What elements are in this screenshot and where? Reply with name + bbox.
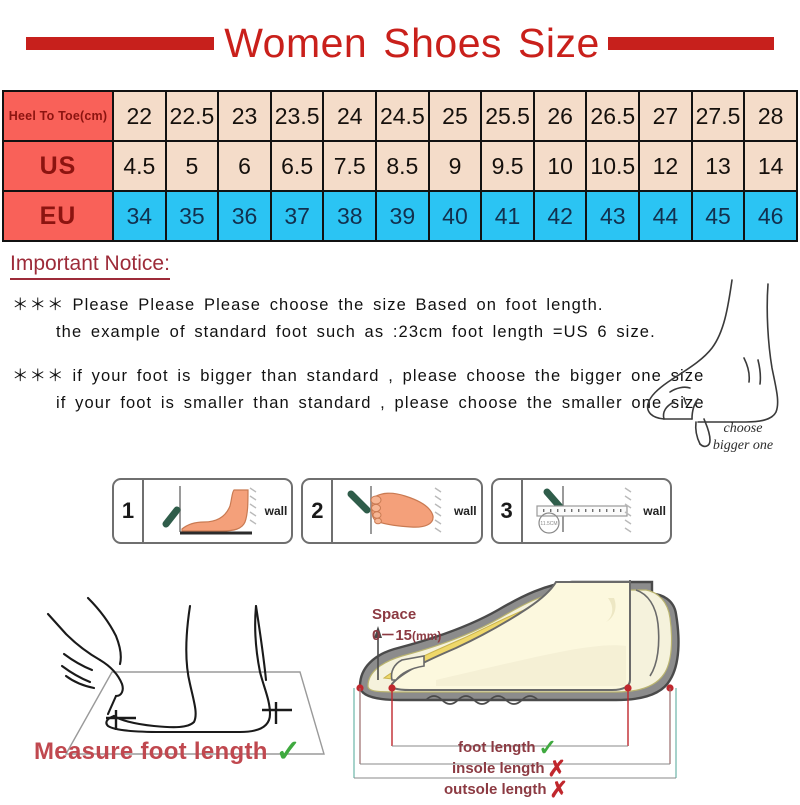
- legend-row-insole-length: insole length ✗: [444, 758, 744, 779]
- step-number: 2: [303, 480, 333, 542]
- important-notice-body: ＊＊＊Please Please Please choose the size …: [12, 292, 692, 434]
- table-cell: 13: [692, 141, 745, 191]
- table-cell: 43: [586, 191, 639, 241]
- table-cell: 44: [639, 191, 692, 241]
- svg-text:11.5CM: 11.5CM: [540, 521, 557, 527]
- table-cell: 25: [429, 91, 482, 141]
- table-cell: 7.5: [323, 141, 376, 191]
- table-cell: 35: [166, 191, 219, 241]
- page-title-word-3: Size: [518, 20, 600, 66]
- measurement-steps: 1 wall 2: [112, 478, 672, 544]
- table-row-cm: Heel To Toe(cm) 22 22.5 23 23.5 24 24.5 …: [3, 91, 797, 141]
- table-cell: 37: [271, 191, 324, 241]
- step-number: 3: [493, 480, 523, 542]
- table-cell: 34: [113, 191, 166, 241]
- page-title-word-2: Shoes: [383, 20, 502, 66]
- asterisk-marker: ＊＊＊: [12, 296, 65, 314]
- table-cell: 9: [429, 141, 482, 191]
- space-label-line2: 0－15(mm): [372, 625, 441, 647]
- title-rule-right: [608, 37, 774, 50]
- shoe-measurement-legend: foot length ✓ insole length ✗ outsole le…: [444, 737, 744, 800]
- table-cell: 10: [534, 141, 587, 191]
- size-conversion-table: Heel To Toe(cm) 22 22.5 23 23.5 24 24.5 …: [2, 90, 798, 242]
- table-cell: 26.5: [586, 91, 639, 141]
- caption-line: bigger one: [688, 437, 798, 454]
- title-rule-left: [26, 37, 214, 50]
- choose-bigger-one-caption: choose bigger one: [688, 420, 798, 454]
- space-label-line1: Space: [372, 604, 441, 625]
- step-box-2: 2 wall: [301, 478, 482, 544]
- table-cell: 28: [744, 91, 797, 141]
- step-box-1: 1 wall: [112, 478, 293, 544]
- measure-foot-length-caption: Measure foot length ✓: [34, 738, 301, 766]
- table-cell: 38: [323, 191, 376, 241]
- notice-text: if your foot is bigger than standard , p…: [73, 367, 705, 385]
- notice-block-1: ＊＊＊Please Please Please choose the size …: [12, 292, 692, 346]
- row-header-us: US: [3, 141, 113, 191]
- table-cell: 42: [534, 191, 587, 241]
- table-cell: 40: [429, 191, 482, 241]
- row-header-eu: EU: [3, 191, 113, 241]
- table-cell: 39: [376, 191, 429, 241]
- table-cell: 8.5: [376, 141, 429, 191]
- table-cell: 4.5: [113, 141, 166, 191]
- table-cell: 9.5: [481, 141, 534, 191]
- important-notice-heading: Important Notice:: [10, 252, 170, 280]
- legend-label: insole length: [452, 758, 545, 779]
- notice-line: ＊＊＊if your foot is bigger than standard …: [12, 363, 692, 390]
- table-cell: 24: [323, 91, 376, 141]
- table-cell: 12: [639, 141, 692, 191]
- table-cell: 46: [744, 191, 797, 241]
- legend-row-outsole-length: outsole length ✗: [444, 779, 744, 800]
- notice-line: if your foot is smaller than standard , …: [12, 390, 692, 417]
- caption-text: Measure foot length: [34, 738, 268, 766]
- table-cell: 27.5: [692, 91, 745, 141]
- table-cell: 6: [218, 141, 271, 191]
- notice-block-2: ＊＊＊if your foot is bigger than standard …: [12, 363, 692, 417]
- table-cell: 10.5: [586, 141, 639, 191]
- table-cell: 45: [692, 191, 745, 241]
- table-row-eu: EU 34 35 36 37 38 39 40 41 42 43 44 45 4…: [3, 191, 797, 241]
- page-title-word-1: Women: [224, 20, 367, 66]
- page-title: WomenShoesSize: [224, 23, 600, 64]
- wall-label: wall: [643, 504, 666, 518]
- caption-line: choose: [688, 420, 798, 437]
- table-cell: 23: [218, 91, 271, 141]
- space-annotation: Space 0－15(mm): [372, 604, 441, 647]
- check-icon: ✓: [276, 740, 301, 764]
- cross-icon: ✗: [550, 782, 568, 797]
- space-unit: (mm): [412, 629, 441, 643]
- table-row-us: US 4.5 5 6 6.5 7.5 8.5 9 9.5 10 10.5 12 …: [3, 141, 797, 191]
- table-cell: 5: [166, 141, 219, 191]
- table-cell: 22.5: [166, 91, 219, 141]
- check-icon: ✓: [538, 740, 556, 755]
- space-range: 0－15: [372, 627, 412, 644]
- notice-line: ＊＊＊Please Please Please choose the size …: [12, 292, 692, 319]
- step-3-illustration: 11.5CM wall: [523, 480, 670, 542]
- legend-label: foot length: [458, 737, 535, 758]
- table-cell: 26: [534, 91, 587, 141]
- step-box-3: 3 11.5CM: [491, 478, 672, 544]
- asterisk-marker: ＊＊＊: [12, 367, 65, 385]
- table-cell: 23.5: [271, 91, 324, 141]
- wall-label: wall: [454, 504, 477, 518]
- table-cell: 41: [481, 191, 534, 241]
- table-cell: 27: [639, 91, 692, 141]
- table-cell: 22: [113, 91, 166, 141]
- step-number: 1: [114, 480, 144, 542]
- table-cell: 25.5: [481, 91, 534, 141]
- notice-line: the example of standard foot such as :23…: [12, 319, 692, 346]
- table-cell: 24.5: [376, 91, 429, 141]
- cross-icon: ✗: [548, 761, 566, 776]
- notice-text: Please Please Please choose the size Bas…: [73, 296, 604, 314]
- step-2-illustration: wall: [333, 480, 480, 542]
- step-1-illustration: wall: [144, 480, 291, 542]
- row-header-heel-to-toe: Heel To Toe(cm): [3, 91, 113, 141]
- table-cell: 14: [744, 141, 797, 191]
- legend-label: outsole length: [444, 779, 547, 800]
- legend-row-foot-length: foot length ✓: [444, 737, 744, 758]
- table-cell: 6.5: [271, 141, 324, 191]
- wall-label: wall: [265, 504, 288, 518]
- table-cell: 36: [218, 191, 271, 241]
- page-title-bar: WomenShoesSize: [0, 14, 800, 72]
